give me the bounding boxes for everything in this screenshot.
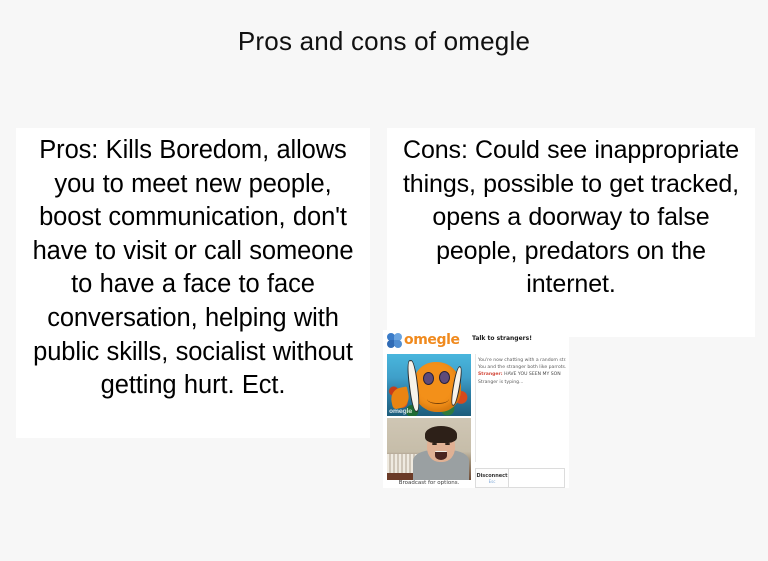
- omegle-tagline: Talk to strangers!: [472, 335, 532, 342]
- chat-transcript: You're now chatting with a random strang…: [475, 354, 566, 462]
- chat-line-text: You're now chatting with a random strang…: [478, 358, 566, 363]
- chat-line: Stranger: HAVE YOU SEEN MY SON: [476, 371, 566, 378]
- chat-line: You and the stranger both like parrots.: [476, 364, 566, 371]
- pros-card: Pros: Kills Boredom, allows you to meet …: [16, 128, 370, 438]
- fish-mouth: [427, 394, 449, 404]
- cons-card: Cons: Could see inappropriate things, po…: [387, 128, 755, 337]
- chat-line-sender: Stranger:: [478, 372, 503, 377]
- slide-canvas: Pros and cons of omegle Pros: Kills Bore…: [0, 0, 768, 561]
- disconnect-button-shortcut: Esc: [489, 479, 496, 484]
- chat-line-text: Stranger is typing...: [478, 380, 523, 385]
- video-watermark: omegle: [389, 408, 412, 415]
- fish-eye-right: [439, 371, 450, 384]
- omegle-pinwheel-icon: [387, 333, 402, 348]
- page-title: Pros and cons of omegle: [0, 24, 768, 58]
- pros-card-text: Pros: Kills Boredom, allows you to meet …: [20, 134, 366, 403]
- chat-line: You're now chatting with a random strang…: [476, 354, 566, 364]
- omegle-screenshot-image: omegle Talk to strangers! omegle: [383, 330, 569, 488]
- chat-controls: Disconnect Esc: [475, 468, 565, 488]
- person-hair: [425, 426, 457, 443]
- disconnect-button[interactable]: Disconnect Esc: [475, 468, 509, 488]
- chat-line-text: You and the stranger both like parrots.: [478, 365, 566, 370]
- message-input[interactable]: [509, 468, 565, 488]
- stranger-video-panel: omegle: [387, 354, 471, 416]
- self-video-caption: Broadcast for options.: [387, 480, 471, 486]
- cons-card-text: Cons: Could see inappropriate things, po…: [391, 134, 751, 302]
- person-mouth: [435, 451, 447, 460]
- fish-eye-left: [423, 372, 434, 385]
- omegle-wordmark: omegle: [404, 333, 460, 348]
- omegle-header: omegle Talk to strangers!: [383, 330, 569, 352]
- chat-line: Stranger is typing...: [476, 379, 566, 386]
- self-video-panel: [387, 418, 471, 480]
- omegle-logo: omegle: [387, 332, 460, 349]
- chat-line-text: HAVE YOU SEEN MY SON: [503, 372, 561, 377]
